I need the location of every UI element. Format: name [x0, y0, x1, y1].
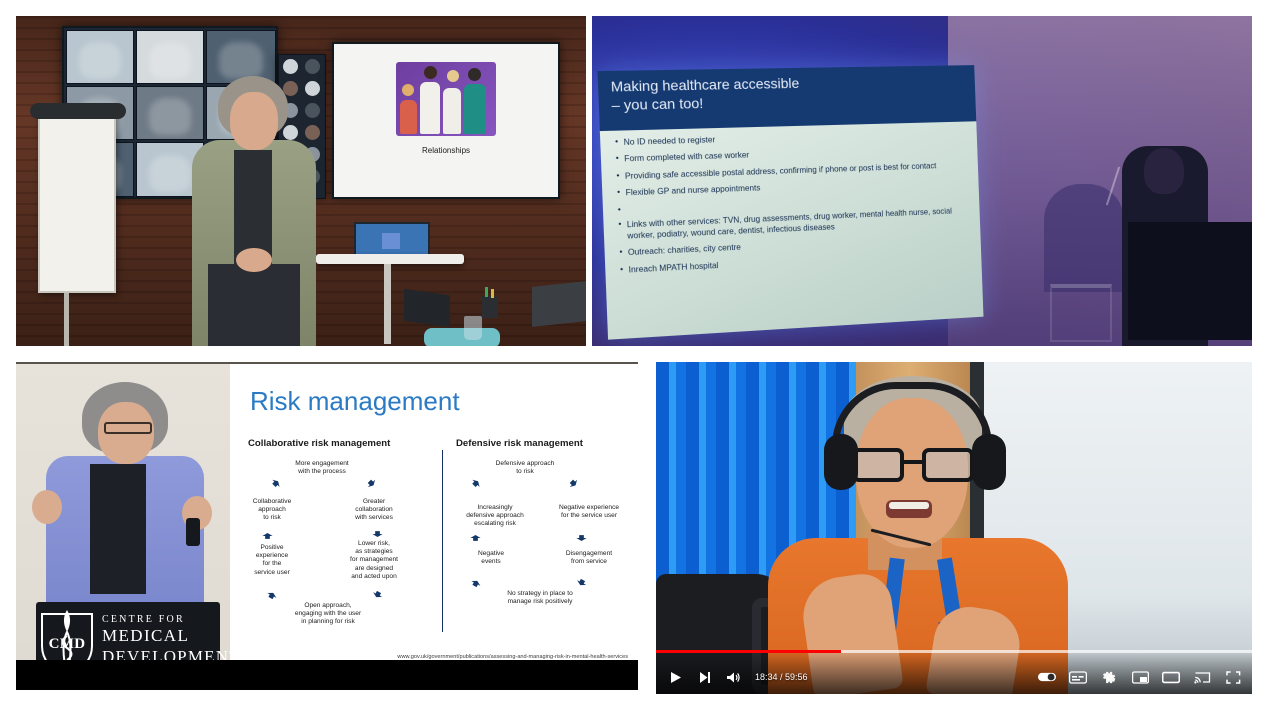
autoplay-toggle-icon[interactable] — [1038, 668, 1056, 686]
shield-label: CMD — [38, 636, 96, 653]
standing-desk — [316, 254, 464, 264]
screenshot-grid: Relationships Making healthcare accessib… — [0, 0, 1268, 718]
speaker-head — [826, 376, 1002, 576]
column-divider — [442, 450, 443, 632]
arrow-icon: ➧ — [469, 531, 485, 544]
presenter-figure — [188, 76, 318, 346]
arrow-icon: ➧ — [573, 531, 589, 544]
progress-bar-played — [656, 650, 841, 653]
arrow-icon: ➧ — [369, 527, 385, 540]
progress-bar-track[interactable] — [656, 650, 1252, 653]
desk-leg — [384, 264, 391, 344]
volume-icon[interactable] — [724, 668, 742, 686]
flipchart-roller — [30, 103, 126, 119]
flipchart-board — [38, 111, 116, 293]
cycle-node: Collaborative approach to risk — [236, 498, 308, 523]
cycle-node: Positive experience for the service user — [236, 544, 308, 577]
arrow-icon: ➧ — [261, 529, 277, 542]
logo-line-1: CENTRE FOR — [102, 614, 241, 625]
time-display: 18:34 / 59:56 — [755, 672, 808, 682]
cycle-node: Greater collaboration with services — [338, 498, 410, 523]
subtitles-icon[interactable] — [1069, 668, 1087, 686]
water-glass — [464, 316, 482, 340]
slide-title: Making healthcare accessible – you can t… — [597, 65, 976, 131]
cycle-node: Negative experience for the service user — [544, 504, 634, 520]
pen-pot — [482, 296, 498, 318]
arrow-icon: ➧ — [266, 474, 287, 495]
speaker-head — [1144, 148, 1184, 194]
flipchart-leg — [64, 293, 69, 346]
presentation-slide-screen: Relationships — [332, 42, 560, 199]
tablet-stand — [404, 289, 450, 327]
cycle-node: Increasingly defensive approach escalati… — [452, 504, 538, 529]
stool — [1050, 284, 1112, 342]
lectern — [1128, 222, 1252, 340]
relationships-illustration — [396, 62, 496, 136]
player-right-controls[interactable] — [1038, 668, 1242, 686]
cycle-node: More engagement with the process — [276, 460, 368, 476]
teal-cloth — [424, 328, 500, 346]
headphone-cup-left — [824, 434, 858, 490]
slide-caption: Relationships — [334, 146, 558, 155]
eyeglasses — [852, 448, 974, 482]
laptop-on-desk — [354, 222, 430, 258]
column-heading-defensive: Defensive risk management — [456, 438, 583, 449]
arrow-icon: ➧ — [570, 572, 590, 591]
play-icon[interactable] — [666, 668, 684, 686]
panel-bottom-left-risk-slide: CMD CENTRE FOR MEDICAL DEVELOPMENT Risk … — [16, 362, 638, 690]
arrow-icon: ➧ — [562, 474, 583, 495]
cycle-node: No strategy in place to manage risk posi… — [478, 590, 602, 606]
cycle-node: Lower risk, as strategies for management… — [334, 540, 414, 581]
settings-gear-icon[interactable] — [1100, 668, 1118, 686]
projected-slide: Making healthcare accessible – you can t… — [597, 65, 983, 340]
risk-management-slide: Risk management Collaborative risk manag… — [230, 364, 638, 690]
speaker-shadow — [1044, 184, 1124, 292]
theater-mode-icon[interactable] — [1162, 668, 1180, 686]
headphone-band — [832, 382, 992, 446]
arrow-icon: ➧ — [360, 474, 381, 495]
player-left-controls[interactable]: 18:34 / 59:56 — [666, 668, 808, 686]
cycle-node: Negative events — [456, 550, 526, 566]
cycle-node: Disengagement from service — [546, 550, 632, 566]
logo-line-2: MEDICAL — [102, 626, 241, 646]
cast-icon[interactable] — [1193, 668, 1211, 686]
cycle-node: Open approach, engaging with the user in… — [274, 602, 382, 627]
arrow-icon: ➧ — [366, 584, 386, 603]
slide-title: Risk management — [250, 386, 460, 417]
cycle-node: Defensive approach to risk — [470, 460, 580, 476]
panel-top-right-conference: Making healthcare accessible – you can t… — [592, 16, 1252, 346]
column-heading-collaborative: Collaborative risk management — [248, 438, 390, 449]
next-track-icon[interactable] — [695, 668, 713, 686]
arrow-icon: ➧ — [466, 474, 487, 495]
headphone-cup-right — [972, 434, 1006, 490]
panel-bottom-right-video[interactable]: Inclusive NHS — [656, 362, 1252, 694]
panel-top-left-classroom: Relationships — [16, 16, 586, 346]
slide-bullet-list: No ID needed to register Form completed … — [615, 127, 972, 281]
fullscreen-icon[interactable] — [1224, 668, 1242, 686]
miniplayer-icon[interactable] — [1131, 668, 1149, 686]
second-laptop — [532, 281, 586, 327]
video-player-controls[interactable]: 18:34 / 59:56 — [656, 650, 1252, 694]
slide-footer-bar — [16, 660, 638, 690]
